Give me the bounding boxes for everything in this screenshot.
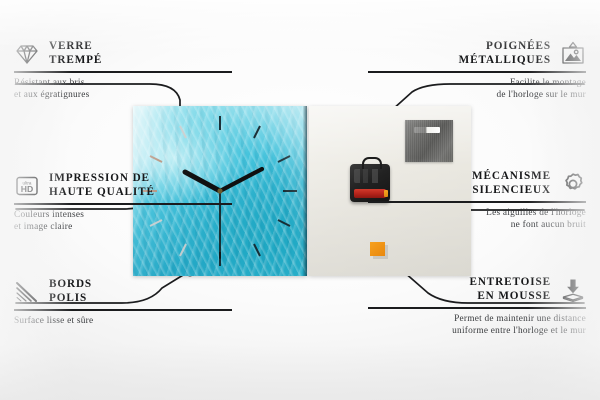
feature-description: Couleurs intenses et image claire (14, 209, 232, 234)
tick-11 (180, 126, 186, 138)
feature-title-line2: TREMPÉ (49, 54, 102, 68)
diamond-icon (14, 41, 40, 67)
feature-header: MÉCANISME SILENCIEUX (368, 170, 586, 197)
polished-edges-icon (14, 279, 40, 305)
feature-desc-line1: Surface lisse et sûre (14, 315, 232, 328)
foam-spacer-icon (560, 277, 586, 303)
feature-title: IMPRESSION DE HAUTE QUALITÉ (49, 172, 155, 199)
feature-title-line1: MÉCANISME (472, 170, 551, 184)
feature-desc-line1: Facilite le montage (368, 77, 586, 90)
feature-title-line2: EN MOUSSE (469, 290, 551, 304)
feature-bords-polis: BORDS POLIS Surface lisse et sûre (14, 278, 232, 327)
feature-header: POIGNÉES MÉTALLIQUES (368, 40, 586, 67)
tick-10 (150, 156, 162, 162)
feature-rule (368, 201, 586, 203)
feature-title: ENTRETOISE EN MOUSSE (469, 276, 551, 303)
feature-title: VERRE TREMPÉ (49, 40, 102, 67)
feature-desc-line2: et image claire (14, 221, 232, 234)
feature-title-line2: HAUTE QUALITÉ (49, 186, 155, 200)
feature-rule (14, 71, 232, 73)
feature-description: Résistant aux bris et aux égratignures (14, 77, 232, 102)
feature-title: POIGNÉES MÉTALLIQUES (459, 40, 551, 67)
feature-title-line2: SILENCIEUX (472, 184, 551, 198)
feature-title-line1: VERRE (49, 40, 102, 54)
feature-description: Surface lisse et sûre (14, 315, 232, 328)
foam-spacer-pad (370, 242, 385, 256)
feature-desc-line1: Résistant aux bris (14, 77, 232, 90)
feature-entretoise-en-mousse: ENTRETOISE EN MOUSSE Permet de maintenir… (368, 276, 586, 338)
feature-title-line1: POIGNÉES (459, 40, 551, 54)
feature-rule (14, 203, 232, 205)
tick-7 (180, 244, 186, 256)
gear-icon (560, 171, 586, 197)
ultra-hd-icon-large-text: HD (21, 184, 33, 194)
feature-title-line1: BORDS (49, 278, 92, 292)
glass-edge (303, 106, 307, 276)
hanging-picture-frame-icon (560, 41, 586, 67)
tick-4 (278, 220, 290, 226)
feature-title: BORDS POLIS (49, 278, 92, 305)
tick-5 (254, 244, 260, 256)
feature-verre-trempe: VERRE TREMPÉ Résistant aux bris et aux é… (14, 40, 232, 102)
tick-2 (278, 156, 290, 162)
feature-desc-line2: uniforme entre l'horloge et le mur (368, 325, 586, 338)
feature-desc-line2: et aux égratignures (14, 89, 232, 102)
feature-title-line1: ENTRETOISE (469, 276, 551, 290)
feature-title: MÉCANISME SILENCIEUX (472, 170, 551, 197)
feature-rule (368, 71, 586, 73)
feature-title-line1: IMPRESSION DE (49, 172, 155, 186)
feature-desc-line2: ne font aucun bruit (368, 219, 586, 232)
feature-description: Permet de maintenir une distance uniform… (368, 313, 586, 338)
feature-mecanisme-silencieux: MÉCANISME SILENCIEUX Les aiguilles de l'… (368, 170, 586, 232)
feature-desc-line2: de l'horloge sur le mur (368, 89, 586, 102)
infographic-canvas: VERRE TREMPÉ Résistant aux bris et aux é… (0, 0, 600, 400)
handle-slot (414, 127, 440, 133)
feature-desc-line1: Couleurs intenses (14, 209, 232, 222)
feature-rule (368, 307, 586, 309)
feature-title-line2: POLIS (49, 292, 92, 306)
feature-description: Facilite le montage de l'horloge sur le … (368, 77, 586, 102)
tick-1 (254, 126, 260, 138)
feature-header: BORDS POLIS (14, 278, 232, 305)
feature-header: ultra HD IMPRESSION DE HAUTE QUALITÉ (14, 172, 232, 199)
feature-description: Les aiguilles de l'horloge ne font aucun… (368, 207, 586, 232)
feature-desc-line1: Les aiguilles de l'horloge (368, 207, 586, 220)
feature-desc-line1: Permet de maintenir une distance (368, 313, 586, 326)
feature-rule (14, 309, 232, 311)
feature-title-line2: MÉTALLIQUES (459, 54, 551, 68)
feature-impression-haute-qualite: ultra HD IMPRESSION DE HAUTE QUALITÉ Cou… (14, 172, 232, 234)
metal-hanging-handle (405, 120, 453, 162)
feature-header: VERRE TREMPÉ (14, 40, 232, 67)
feature-header: ENTRETOISE EN MOUSSE (368, 276, 586, 303)
ultra-hd-icon: ultra HD (14, 173, 40, 199)
mechanism-hanging-loop (362, 157, 382, 169)
feature-poignees-metalliques: POIGNÉES MÉTALLIQUES Facilite le montage… (368, 40, 586, 102)
